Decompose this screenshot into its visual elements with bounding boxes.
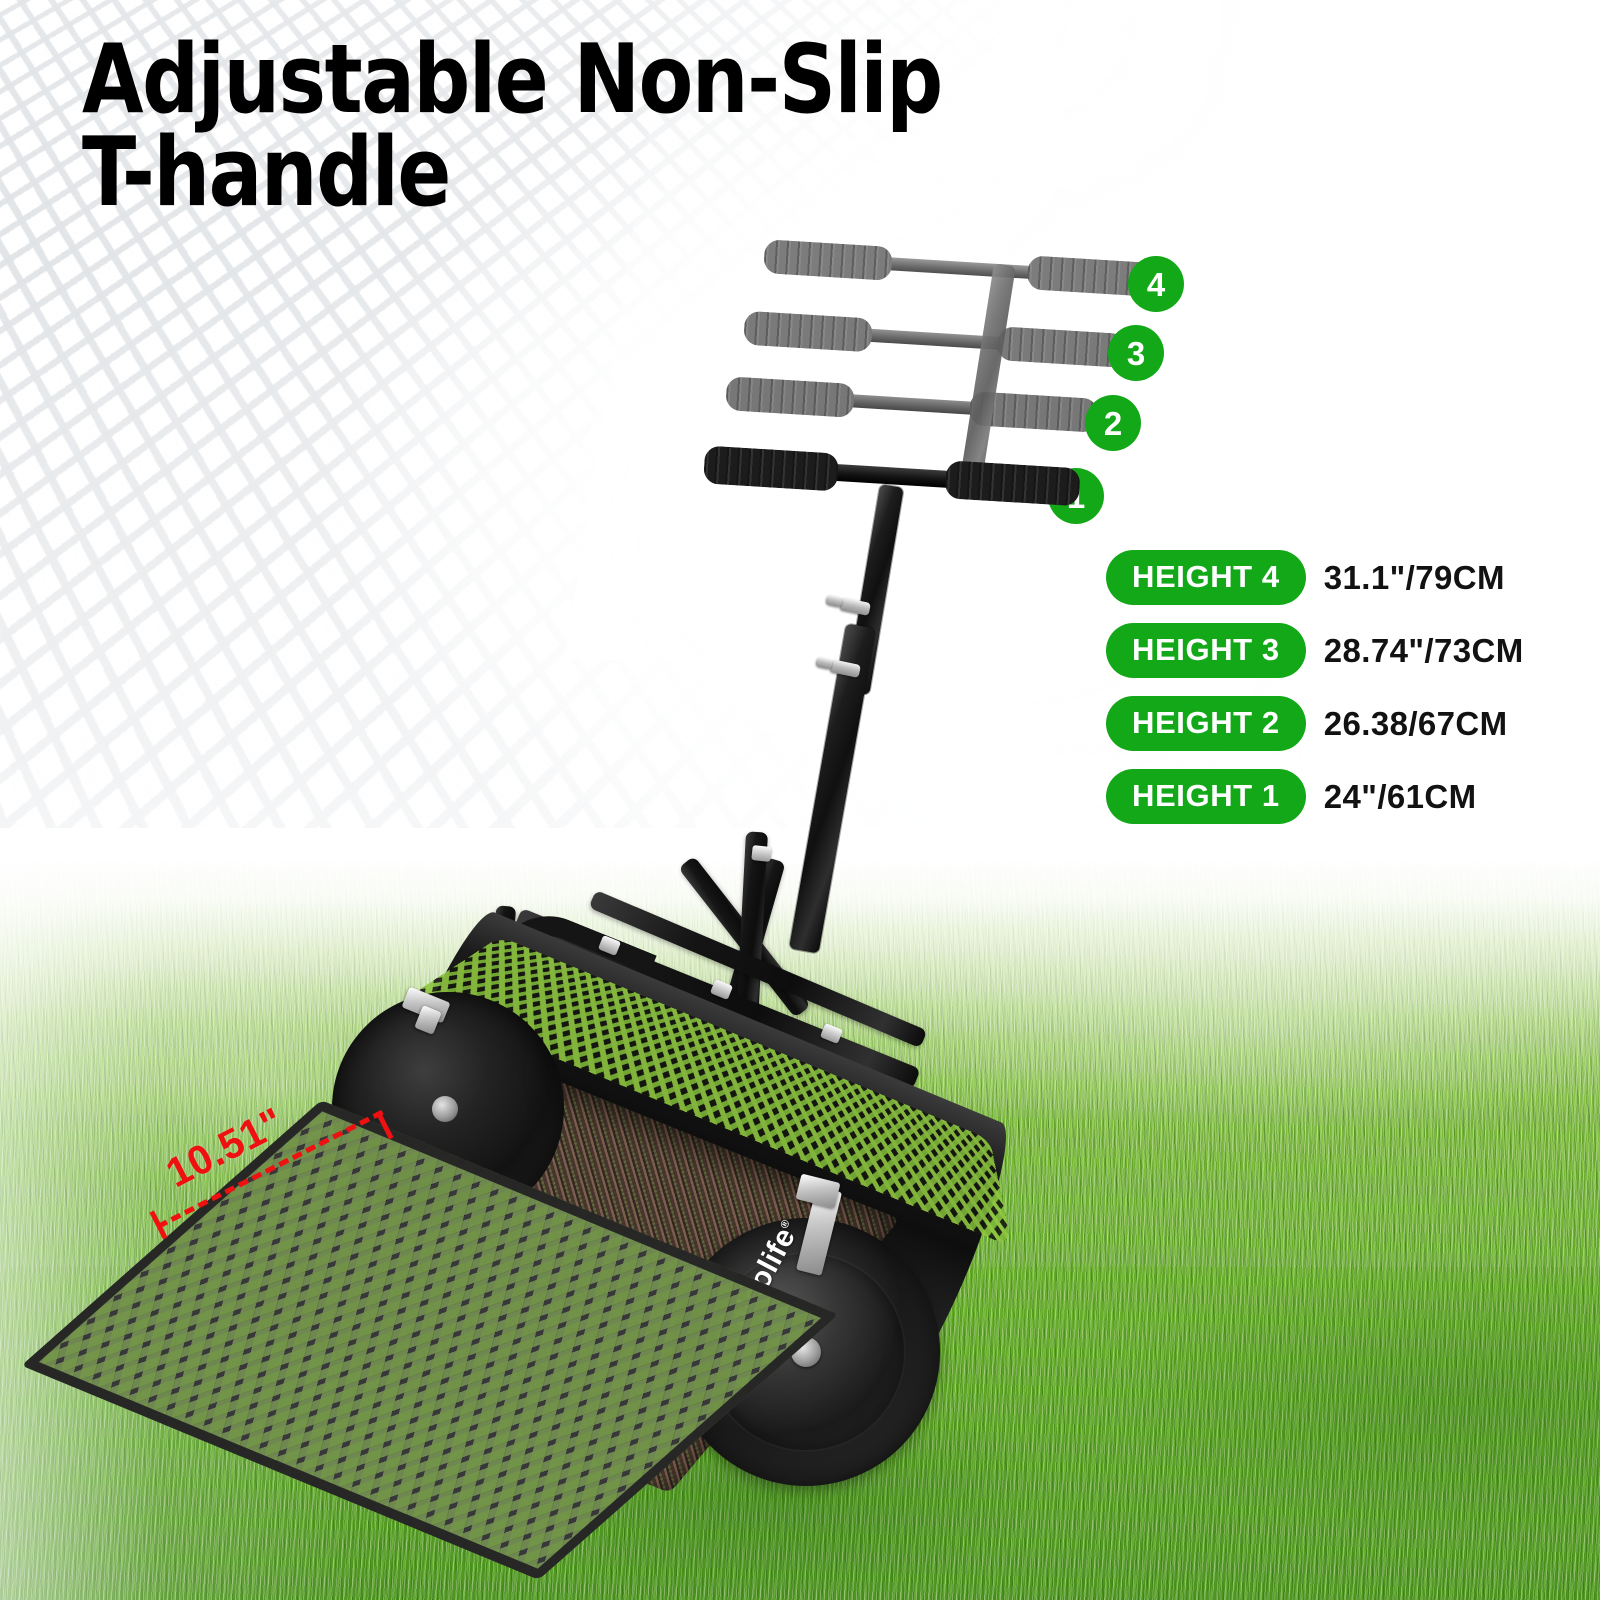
handle-position-1-active [828,472,1042,485]
height-spec-row-2: HEIGHT 2 26.38/67CM [1106,696,1508,751]
height-pill-1: HEIGHT 1 [1106,769,1306,824]
height-spec-row-4: HEIGHT 4 31.1"/79CM [1106,550,1505,605]
handle-badge-4-label: 4 [1147,268,1165,301]
adjustment-pin-lower[interactable] [815,656,833,669]
handle-grip-3-left [743,311,873,353]
height-value-2: 26.38/67CM [1324,705,1508,743]
telescoping-shaft-lower [789,623,876,953]
height-value-3: 28.74"/73CM [1324,632,1524,670]
handle-badge-2-label: 2 [1104,407,1122,440]
height-value-1: 24"/61CM [1324,778,1477,816]
handle-position-3 [848,334,1098,349]
height-pill-2: HEIGHT 2 [1106,696,1306,751]
height-value-4: 31.1"/79CM [1324,559,1505,597]
handle-badge-4: 4 [1128,256,1184,312]
height-pill-3: HEIGHT 3 [1106,623,1306,678]
handle-shaft-ghost [958,263,1016,494]
drum-end-cap-left-hub [432,1096,458,1122]
height-spec-row-1: HEIGHT 1 24"/61CM [1106,769,1477,824]
handle-grip-1-left [703,445,839,491]
dimension-label: 10.51" [159,1098,292,1197]
height-spec-row-3: HEIGHT 3 28.74"/73CM [1106,623,1524,678]
product-infographic: Adjustable Non-Slip T-handle [0,0,1600,1600]
handle-badge-3: 3 [1108,325,1164,381]
height-pill-4: HEIGHT 4 [1106,550,1306,605]
handle-grip-2-left [725,376,855,418]
handle-badge-2: 2 [1085,395,1141,451]
handle-position-2 [838,400,1070,414]
handle-grip-3-right [997,326,1127,368]
dimension-callout: 10.51" [152,1132,422,1252]
adjustment-pin-upper[interactable] [825,594,843,607]
handle-grip-1-right [945,460,1081,506]
handle-grip-4-left [763,239,893,281]
frame-bolt-top [751,845,771,862]
handle-badge-3-label: 3 [1127,337,1145,370]
